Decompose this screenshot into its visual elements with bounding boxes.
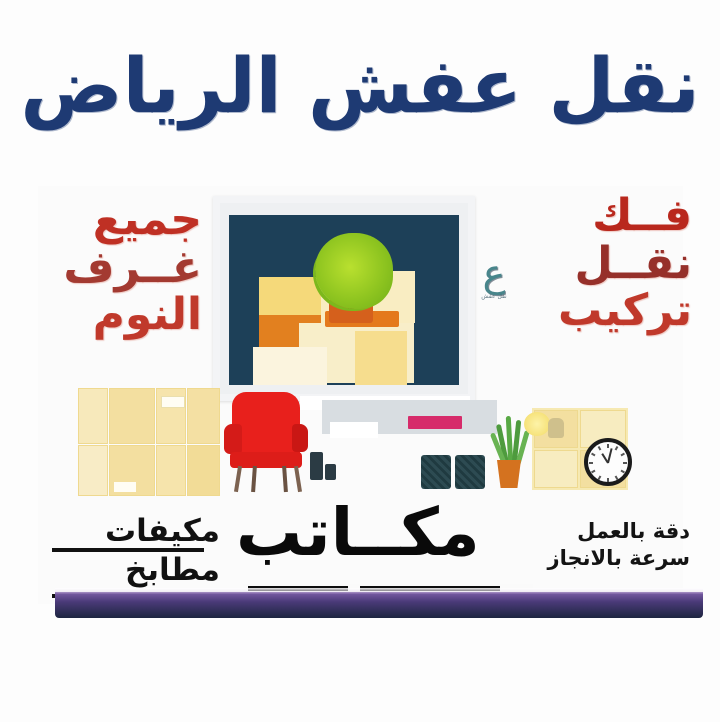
- box-cell: [109, 388, 155, 444]
- slogan-line: سرعة بالانجاز: [480, 545, 690, 572]
- clock-tick: [615, 446, 619, 450]
- speaker-box: [325, 464, 336, 480]
- box-cell: [156, 445, 186, 496]
- watermark-caption: نقل عفش: [470, 293, 518, 300]
- clock-tick: [589, 462, 593, 464]
- table-lamp-glow: [524, 412, 550, 436]
- service-line: جميع: [42, 196, 202, 244]
- counter-drawer: [330, 422, 378, 438]
- box-cell: [78, 445, 108, 496]
- box-cell: [78, 388, 108, 444]
- counter-accent-strip: [408, 416, 462, 429]
- shelf-cell: [534, 450, 578, 488]
- clock-tick: [615, 475, 619, 479]
- service-list-assembly: فــك نقــل تركيب: [517, 192, 692, 335]
- clock-tick: [620, 453, 624, 457]
- stacked-boxes-group: [78, 388, 220, 496]
- armchair-arm-left: [224, 424, 242, 454]
- clock-tick: [623, 462, 627, 464]
- framed-picture: [213, 196, 475, 401]
- box-label-sticker: [114, 482, 136, 492]
- service-line: مطابخ: [50, 551, 220, 590]
- clock-tick: [607, 444, 609, 448]
- poster-canvas: نقل عفش الرياض ع نقل عفش: [0, 0, 720, 722]
- clock-tick: [598, 446, 602, 450]
- speaker-box: [310, 452, 323, 480]
- plant-foliage-icon: [315, 233, 393, 309]
- quality-slogan: دقة بالعمل سرعة بالانجاز: [480, 518, 690, 573]
- service-list-bedrooms: جميع غــرف النوم: [42, 196, 202, 339]
- service-line: النوم: [42, 291, 202, 339]
- service-line: غــرف: [42, 244, 202, 292]
- clock-tick: [591, 470, 595, 474]
- clock-tick: [591, 453, 595, 457]
- service-line: تركيب: [517, 287, 692, 335]
- woven-basket: [455, 455, 485, 489]
- armchair-arm-right: [292, 424, 308, 452]
- box-side: [355, 331, 407, 385]
- clock-tick: [598, 475, 602, 479]
- picture-canvas: [229, 215, 459, 385]
- box-cell: [187, 388, 220, 444]
- service-line: نقــل: [517, 240, 692, 288]
- service-headline-offices: مكــاتب: [236, 500, 480, 566]
- woven-basket: [421, 455, 451, 489]
- service-line: فــك: [517, 192, 692, 240]
- clock-tick: [620, 470, 624, 474]
- watermark-glyph: ع: [470, 255, 518, 291]
- service-line: مكيفات: [50, 512, 220, 551]
- decor-figurine: [548, 418, 564, 438]
- watermark-logo: ع نقل عفش: [470, 255, 518, 325]
- clock-tick: [607, 478, 609, 482]
- label-underline: [52, 548, 204, 552]
- bottom-accent-bar: [55, 592, 703, 618]
- slogan-line: دقة بالعمل: [480, 518, 690, 545]
- box-open-flap: [253, 347, 327, 385]
- wall-clock-icon: [584, 438, 632, 486]
- page-title: نقل عفش الرياض: [0, 48, 720, 124]
- box-label-sticker: [161, 396, 185, 408]
- box-cell: [187, 445, 220, 496]
